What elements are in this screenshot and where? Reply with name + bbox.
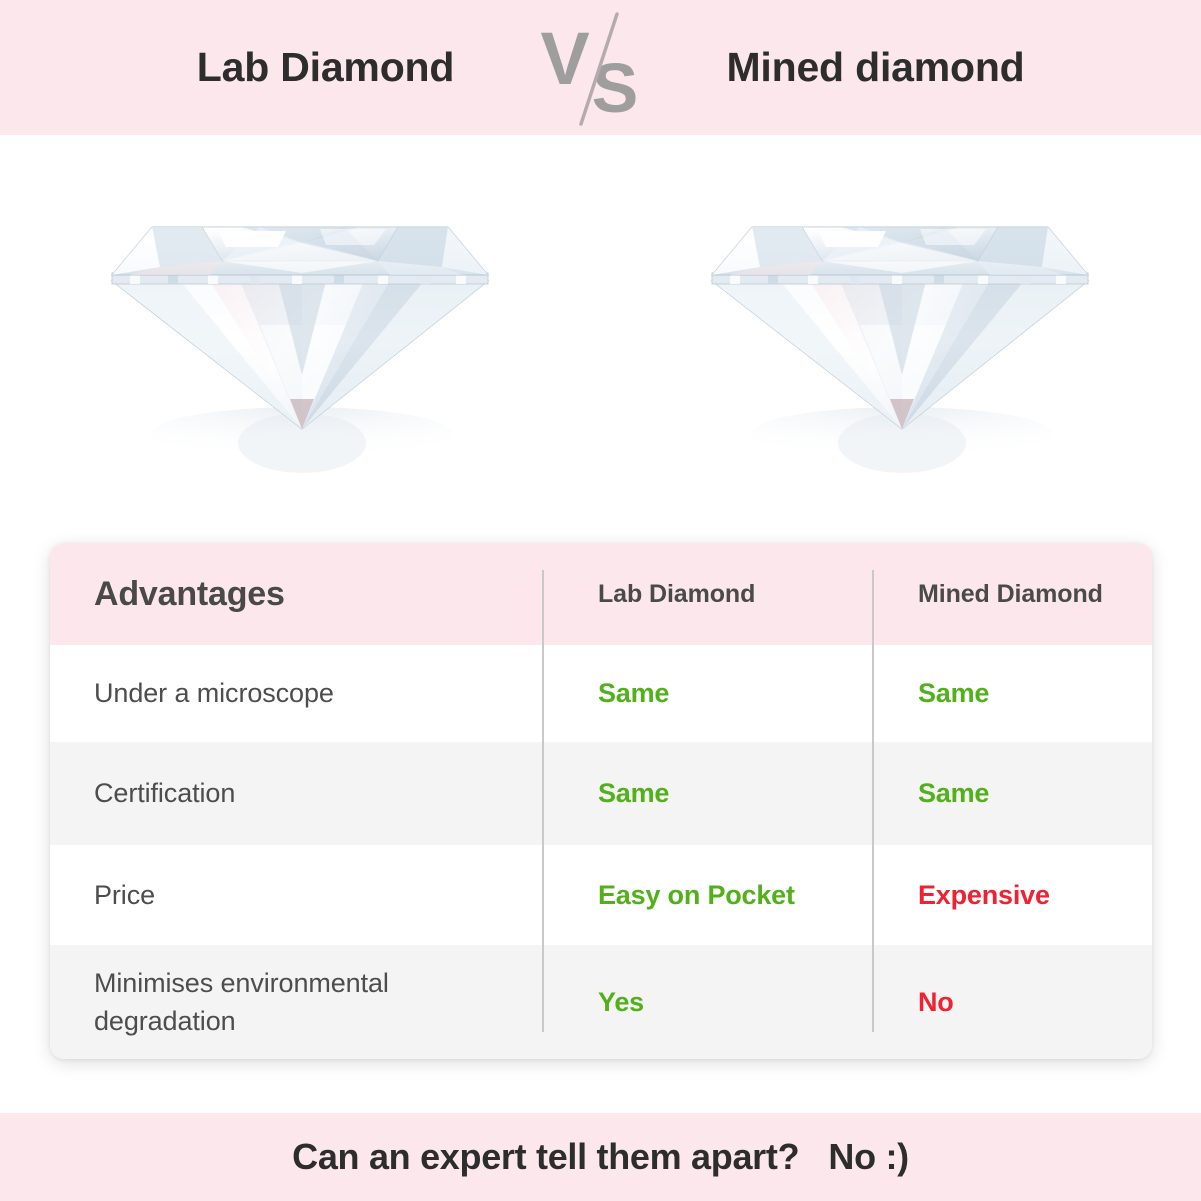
footer-band: Can an expert tell them apart? No :) [0, 1113, 1201, 1201]
row-value-lab: Yes [542, 987, 872, 1018]
column-header-lab-diamond: Lab Diamond [542, 580, 872, 609]
vs-icon: V S [541, 8, 661, 128]
mined-diamond-image [600, 135, 1200, 535]
row-value-lab: Same [542, 778, 872, 809]
header-band: Lab Diamond V S Mined diamond [0, 0, 1201, 135]
row-value-mined: Same [872, 678, 1152, 709]
row-value-mined: Same [872, 778, 1152, 809]
row-label: Price [50, 876, 542, 914]
lab-diamond-image [0, 135, 600, 535]
svg-text:V: V [541, 17, 590, 100]
header-title-mined: Mined diamond [661, 44, 1091, 91]
table-header-row: Advantages Lab Diamond Mined Diamond [50, 543, 1152, 645]
diamond-stage [0, 135, 1201, 535]
column-header-advantages: Advantages [50, 575, 542, 614]
row-label: Certification [50, 774, 542, 812]
row-value-lab: Same [542, 678, 872, 709]
table-row: Under a microscope Same Same [50, 645, 1152, 742]
svg-text:S: S [591, 49, 638, 127]
row-value-lab: Easy on Pocket [542, 880, 872, 911]
row-value-mined: Expensive [872, 880, 1152, 911]
table-row: Price Easy on Pocket Expensive [50, 845, 1152, 945]
row-value-mined: No [872, 987, 1152, 1018]
table-row: Minimises environmental degradation Yes … [50, 945, 1152, 1059]
footer-question-answer: Can an expert tell them apart? No :) [292, 1136, 909, 1178]
comparison-table-card: Advantages Lab Diamond Mined Diamond Und… [50, 543, 1152, 1059]
row-label: Minimises environmental degradation [50, 964, 542, 1041]
table-row: Certification Same Same [50, 742, 1152, 845]
header-title-lab: Lab Diamond [111, 44, 541, 91]
column-header-mined-diamond: Mined Diamond [872, 580, 1152, 609]
row-label: Under a microscope [50, 674, 542, 712]
